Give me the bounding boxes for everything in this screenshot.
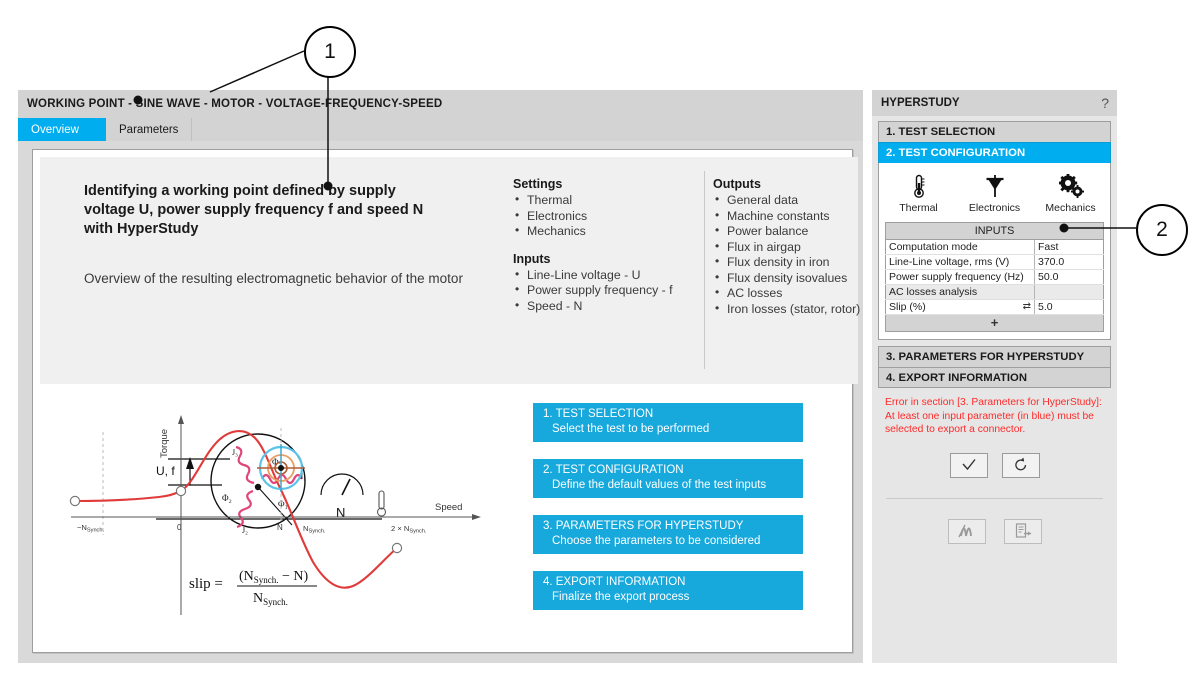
config-option-thermal[interactable]: Thermal (888, 173, 950, 214)
tab-parameters[interactable]: Parameters (106, 118, 191, 141)
config-option-thermal-label: Thermal (888, 202, 950, 214)
help-icon[interactable]: ? (1101, 95, 1109, 111)
check-icon (961, 458, 977, 472)
table-row[interactable]: Power supply frequency (Hz) 50.0 (886, 270, 1104, 285)
hyperstudy-sections: 1. TEST SELECTION 2. TEST CONFIGURATION (872, 116, 1117, 544)
svg-text:slip =: slip = (189, 576, 223, 592)
action-button-row (878, 453, 1111, 478)
main-window-title: WORKING POINT - SINE WAVE - MOTOR - VOLT… (27, 98, 442, 110)
table-row[interactable]: Line-Line voltage, rms (V) 370.0 (886, 255, 1104, 270)
hyperstudy-titlebar: HYPERSTUDY ? (872, 90, 1117, 116)
input-name: Line-Line voltage, rms (V) (886, 255, 1035, 270)
callout-2-number: 2 (1156, 218, 1168, 242)
config-option-electronics[interactable]: Electronics (964, 173, 1026, 214)
link-icon[interactable]: ⇄ (1023, 301, 1031, 312)
chart-marker-open (176, 486, 185, 495)
callout-2: 2 (1136, 204, 1188, 256)
chart-xtick-4: 2 × NSynch. (391, 524, 427, 535)
list-item: Line-Line voltage - U (515, 268, 703, 284)
step-3-title: 3. PARAMETERS FOR HYPERSTUDY (543, 519, 803, 534)
config-option-electronics-label: Electronics (964, 202, 1026, 214)
hyperstudy-panel: HYPERSTUDY ? 1. TEST SELECTION 2. TEST C… (872, 90, 1117, 663)
steps-list: 1. TEST SELECTION Select the test to be … (533, 403, 803, 627)
section-test-configuration[interactable]: 2. TEST CONFIGURATION (878, 142, 1111, 163)
main-window: WORKING POINT - SINE WAVE - MOTOR - VOLT… (18, 90, 863, 663)
leader-line-1a (210, 51, 304, 92)
callout-1-number: 1 (324, 40, 336, 64)
inputs-list: Line-Line voltage - U Power supply frequ… (515, 268, 703, 315)
add-input-row[interactable]: + (886, 315, 1104, 332)
config-option-mechanics-label: Mechanics (1040, 202, 1102, 214)
inputs-table-header: INPUTS (886, 223, 1104, 240)
tabstrip: Overview Parameters (18, 118, 863, 142)
screenshot-root: WORKING POINT - SINE WAVE - MOTOR - VOLT… (0, 0, 1203, 680)
list-item: Power supply frequency - f (515, 283, 703, 299)
chart-working-point (278, 465, 284, 471)
table-row[interactable]: Computation mode Fast (886, 240, 1104, 255)
input-value[interactable]: 370.0 (1035, 255, 1104, 270)
settings-heading: Settings (513, 177, 703, 191)
main-window-titlebar: WORKING POINT - SINE WAVE - MOTOR - VOLT… (18, 90, 863, 118)
step-4-title: 4. EXPORT INFORMATION (543, 575, 803, 590)
gears-icon (1040, 173, 1102, 199)
input-value[interactable]: 5.0 (1035, 300, 1104, 315)
refresh-icon (1013, 457, 1029, 473)
step-box-3[interactable]: 3. PARAMETERS FOR HYPERSTUDY Choose the … (533, 515, 803, 554)
input-value[interactable]: 50.0 (1035, 270, 1104, 285)
add-input-label: + (886, 315, 1104, 332)
error-message: Error in section [3. Parameters for Hype… (878, 388, 1111, 437)
torque-speed-chart: Torque Speed −NSynch. 0 N NSynch. 2 × NS… (63, 400, 523, 630)
svg-text:NSynch.: NSynch. (253, 591, 288, 607)
overview-headline-text: Identifying a working point defined by s… (84, 183, 423, 237)
chart-xtick-1: 0 (177, 523, 182, 532)
config-icon-row: Thermal Electronics (885, 169, 1104, 216)
chart-xtick-2: N (277, 523, 283, 532)
chart-xtick-3: NSynch. (303, 524, 326, 535)
section-parameters-for-hyperstudy[interactable]: 3. PARAMETERS FOR HYPERSTUDY (878, 346, 1111, 367)
test-configuration-body: Thermal Electronics (878, 163, 1111, 340)
section-test-configuration-label: 2. TEST CONFIGURATION (886, 147, 1025, 159)
flux-logo-icon (957, 523, 977, 539)
svg-text:(NSynch. − N): (NSynch. − N) (239, 569, 309, 585)
chart-marker-open (70, 496, 79, 505)
config-option-mechanics[interactable]: Mechanics (1040, 173, 1102, 214)
thermometer-icon (888, 173, 950, 199)
step-4-sub: Finalize the export process (543, 590, 803, 605)
inputs-table: INPUTS Computation mode Fast Line-Line v… (885, 222, 1104, 332)
section-test-selection[interactable]: 1. TEST SELECTION (878, 121, 1111, 142)
section-export-information[interactable]: 4. EXPORT INFORMATION (878, 367, 1111, 388)
input-name-with-link: ⇄ Slip (%) (886, 300, 1035, 315)
callout-1: 1 (304, 26, 356, 78)
step-1-title: 1. TEST SELECTION (543, 407, 803, 422)
tab-parameters-label: Parameters (119, 124, 178, 136)
table-row[interactable]: ⇄ Slip (%) 5.0 (886, 300, 1104, 315)
table-row[interactable]: AC losses analysis (886, 285, 1104, 300)
export-document-button[interactable] (1004, 519, 1042, 544)
tabstrip-filler (191, 118, 863, 141)
inputs-table-header-label: INPUTS (886, 223, 1104, 240)
list-item: Mechanics (515, 224, 703, 240)
chart-series-torque (75, 431, 397, 588)
list-item: Thermal (515, 193, 703, 209)
step-box-2[interactable]: 2. TEST CONFIGURATION Define the default… (533, 459, 803, 498)
panel-divider (886, 498, 1103, 499)
flux-logo-button[interactable] (948, 519, 986, 544)
info-block-divider (704, 171, 705, 369)
step-2-title: 2. TEST CONFIGURATION (543, 463, 803, 478)
footer-button-row (878, 519, 1111, 544)
section-parameters-label: 3. PARAMETERS FOR HYPERSTUDY (886, 351, 1084, 363)
step-2-sub: Define the default values of the test in… (543, 478, 803, 493)
diode-icon (964, 173, 1026, 199)
reset-button[interactable] (1002, 453, 1040, 478)
input-value[interactable]: Fast (1035, 240, 1104, 255)
error-message-text: Error in section [3. Parameters for Hype… (885, 397, 1102, 435)
chart-xtick-0: −NSynch. (77, 523, 104, 534)
list-item: Speed - N (515, 299, 703, 315)
confirm-check-button[interactable] (950, 453, 988, 478)
overview-headline: Identifying a working point defined by s… (84, 182, 444, 239)
step-1-sub: Select the test to be performed (543, 422, 803, 437)
content-frame: Identifying a working point defined by s… (32, 149, 853, 653)
input-name: Computation mode (886, 240, 1035, 255)
input-value[interactable] (1035, 285, 1104, 300)
inputs-heading: Inputs (513, 252, 703, 266)
overview-subline: Overview of the resulting electromagneti… (84, 269, 474, 288)
step-3-sub: Choose the parameters to be considered (543, 534, 803, 549)
chart-xlabel: Speed (435, 502, 462, 513)
input-name: AC losses analysis (886, 285, 1035, 300)
chart-ylabel: Torque (159, 429, 170, 458)
slip-formula: slip = (NSynch. − N) NSynch. (189, 569, 317, 607)
hyperstudy-title: HYPERSTUDY (881, 97, 960, 109)
tab-overview[interactable]: Overview (18, 118, 106, 141)
settings-column: Settings Thermal Electronics Mechanics I… (513, 177, 703, 314)
tab-overview-label: Overview (31, 124, 79, 136)
list-item: Electronics (515, 209, 703, 225)
step-box-1[interactable]: 1. TEST SELECTION Select the test to be … (533, 403, 803, 442)
overview-info-block: Identifying a working point defined by s… (40, 157, 858, 384)
step-box-4[interactable]: 4. EXPORT INFORMATION Finalize the expor… (533, 571, 803, 610)
settings-list: Thermal Electronics Mechanics (515, 193, 703, 240)
main-window-body: Identifying a working point defined by s… (18, 141, 863, 663)
section-test-selection-label: 1. TEST SELECTION (886, 126, 995, 138)
overview-subline-text: Overview of the resulting electromagneti… (84, 271, 463, 286)
chart-marker-open (392, 543, 401, 552)
export-doc-icon (1013, 522, 1033, 540)
section-export-label: 4. EXPORT INFORMATION (886, 372, 1027, 384)
input-name: Slip (%) (889, 301, 926, 313)
input-name: Power supply frequency (Hz) (886, 270, 1035, 285)
